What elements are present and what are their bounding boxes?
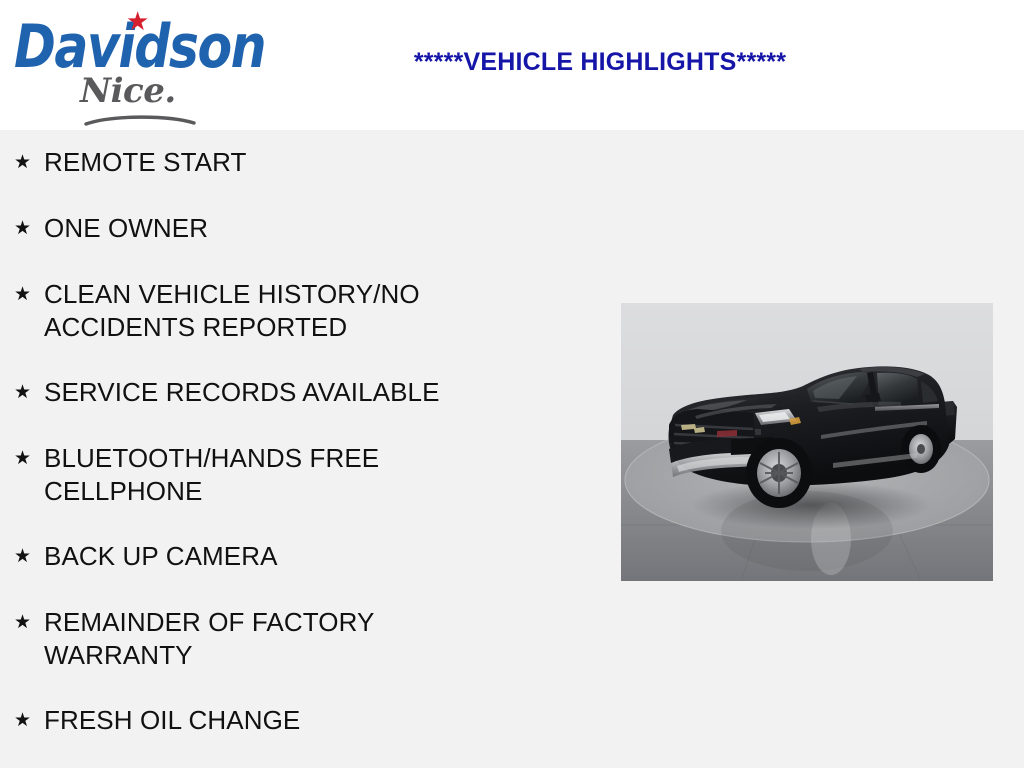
list-item-label: SERVICE RECORDS AVAILABLE <box>44 376 494 409</box>
list-item: ★ REMAINDER OF FACTORY WARRANTY <box>0 606 560 672</box>
list-item-label: BACK UP CAMERA <box>44 540 494 573</box>
star-bullet-icon: ★ <box>14 146 44 180</box>
vehicle-photo-graphic <box>621 303 993 581</box>
star-bullet-icon: ★ <box>14 212 44 246</box>
page-title: *****VEHICLE HIGHLIGHTS***** <box>300 48 900 77</box>
vehicle-photo[interactable] <box>621 303 993 581</box>
list-item: ★ SERVICE RECORDS AVAILABLE <box>0 376 560 410</box>
list-item-label: CLEAN VEHICLE HISTORY/NO ACCIDENTS REPOR… <box>44 278 494 344</box>
list-item-label: REMOTE START <box>44 146 494 179</box>
star-bullet-icon: ★ <box>14 278 44 312</box>
star-bullet-icon: ★ <box>14 704 44 738</box>
star-bullet-icon: ★ <box>14 442 44 476</box>
list-item: ★ FRESH OIL CHANGE <box>0 704 560 738</box>
list-item-label: REMAINDER OF FACTORY WARRANTY <box>44 606 494 672</box>
list-item-label: ONE OWNER <box>44 212 494 245</box>
dealer-logo[interactable]: Davidson ★ Nice. <box>14 4 264 126</box>
list-item-label: FRESH OIL CHANGE <box>44 704 494 737</box>
star-bullet-icon: ★ <box>14 376 44 410</box>
star-bullet-icon: ★ <box>14 606 44 640</box>
logo-star-icon: ★ <box>126 8 149 34</box>
list-item: ★ BLUETOOTH/HANDS FREE CELLPHONE <box>0 442 560 508</box>
list-item: ★ BACK UP CAMERA <box>0 540 560 574</box>
list-item: ★ ONE OWNER <box>0 212 560 246</box>
list-item: ★ CLEAN VEHICLE HISTORY/NO ACCIDENTS REP… <box>0 278 560 344</box>
star-bullet-icon: ★ <box>14 540 44 574</box>
logo-swoosh-underline <box>84 114 196 126</box>
vehicle-highlights-list: ★ REMOTE START ★ ONE OWNER ★ CLEAN VEHIC… <box>0 130 560 768</box>
list-item: ★ REMOTE START <box>0 146 560 180</box>
list-item-label: BLUETOOTH/HANDS FREE CELLPHONE <box>44 442 494 508</box>
logo-secondary-name: Nice. <box>80 74 176 108</box>
